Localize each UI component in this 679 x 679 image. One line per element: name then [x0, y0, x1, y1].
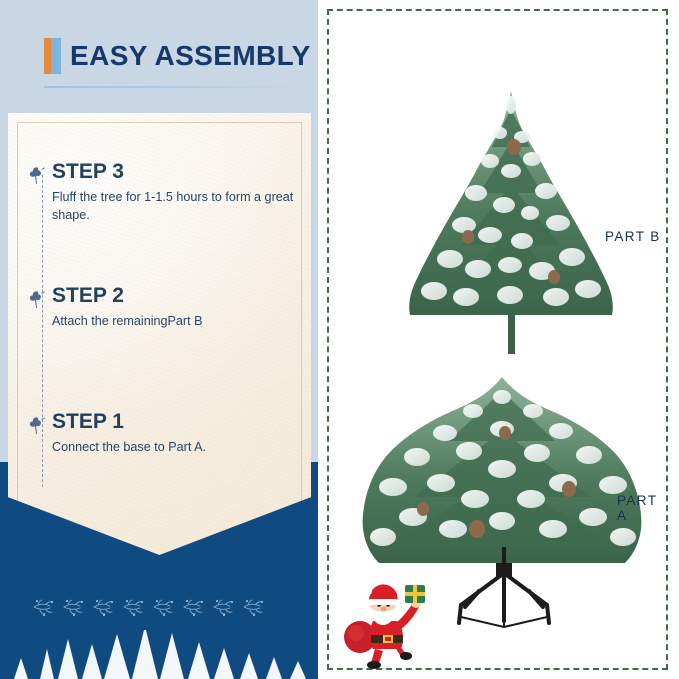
flocked-pine-tree-top-icon [404, 89, 619, 354]
step-title-2: STEP 2 [52, 285, 124, 307]
page-title-row: EASY ASSEMBLY [44, 36, 311, 76]
step-item-3: STEP 3 Fluff the tree for 1-1.5 hours to… [26, 161, 294, 225]
santa-claus-icon [343, 577, 425, 669]
flocked-pine-tree-base-icon [357, 371, 647, 571]
pin-leaf-icon [26, 164, 48, 186]
pin-leaf-icon [26, 414, 48, 436]
part-b-label: PART B [605, 229, 661, 244]
title-underline [44, 86, 294, 88]
page-title: EASY ASSEMBLY [70, 42, 311, 70]
steps-list: STEP 3 Fluff the tree for 1-1.5 hours to… [8, 113, 311, 555]
dashed-outline-frame: PART B PART A [327, 9, 668, 670]
orange-accent-bar [44, 38, 51, 74]
step-description-2: Attach the remainingPart B [52, 313, 294, 331]
step-title-3: STEP 3 [52, 161, 124, 183]
floral-divider-icon [28, 594, 288, 618]
left-instructions-panel: EASY ASSEMBLY STEP 3 Fluff the tree for … [0, 0, 318, 679]
step-description-3: Fluff the tree for 1-1.5 hours to form a… [52, 189, 294, 225]
step-item-2: STEP 2 Attach the remainingPart B [26, 285, 294, 331]
step-description-1: Connect the base to Part A. [52, 439, 294, 457]
white-pine-trees-icon [0, 630, 318, 679]
blue-accent-bar [51, 38, 61, 74]
metal-tripod-stand-icon [449, 547, 559, 637]
pin-leaf-icon [26, 288, 48, 310]
infographic-canvas: EASY ASSEMBLY STEP 3 Fluff the tree for … [0, 0, 679, 679]
step-title-1: STEP 1 [52, 411, 124, 433]
step-item-1: STEP 1 Connect the base to Part A. [26, 411, 294, 457]
part-a-label: PART A [617, 493, 666, 523]
product-parts-panel: PART B PART A [318, 0, 679, 679]
